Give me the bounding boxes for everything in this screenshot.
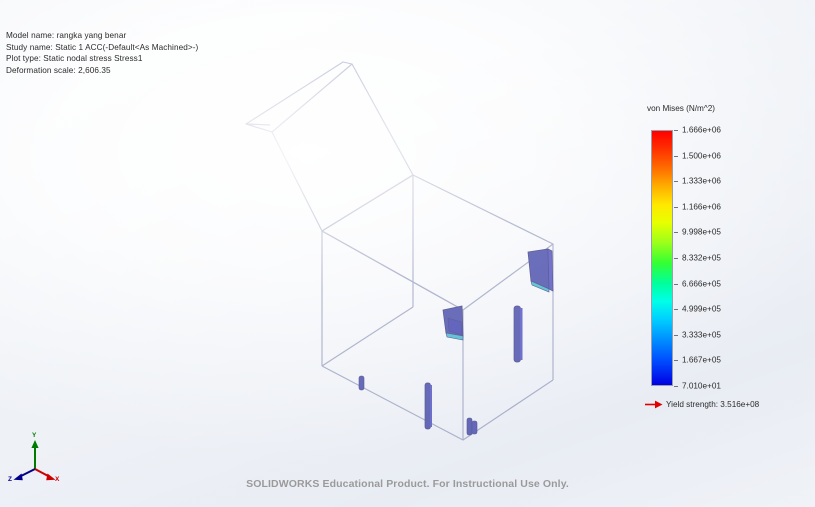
yield-arrow-icon (645, 400, 663, 409)
legend-tick-mark (674, 156, 678, 157)
educational-watermark: SOLIDWORKS Educational Product. For Inst… (0, 478, 815, 490)
legend-tick-mark (674, 232, 678, 233)
stress-element-stub-bottom (467, 418, 477, 435)
stress-element-bar-right (514, 306, 523, 362)
legend-tick-label: 9.998e+05 (682, 228, 721, 237)
legend-tick-label: 1.500e+06 (682, 151, 721, 160)
legend-colorbar[interactable] (651, 130, 673, 386)
stress-element-stub-left (359, 376, 364, 390)
stress-element-bar-lower-mid (425, 383, 432, 429)
yield-strength-annotation: Yield strength: 3.516e+08 (645, 400, 759, 409)
legend-tick-mark (674, 335, 678, 336)
info-plot-type: Plot type: Static nodal stress Stress1 (6, 53, 198, 65)
legend-tick-label: 3.333e+05 (682, 330, 721, 339)
legend-title: von Mises (N/m^2) (647, 104, 715, 113)
legend-tick-mark (674, 309, 678, 310)
legend-tick-label: 4.999e+05 (682, 305, 721, 314)
info-model-name: Model name: rangka yang benar (6, 30, 198, 42)
legend-tick-label: 6.666e+05 (682, 279, 721, 288)
legend-colorbar-wrap[interactable] (651, 130, 673, 386)
legend-tick-mark (674, 360, 678, 361)
info-deformation-scale: Deformation scale: 2,606.35 (6, 65, 198, 77)
legend-tick-label: 1.333e+06 (682, 177, 721, 186)
plot-info-block: Model name: rangka yang benar Study name… (6, 30, 198, 76)
yield-strength-label: Yield strength: 3.516e+08 (666, 400, 759, 409)
wireframe-top-panel (246, 62, 413, 231)
legend-tick-label: 1.666e+06 (682, 126, 721, 135)
legend-tick-mark (674, 181, 678, 182)
legend-tick-label: 7.010e+01 (682, 382, 721, 391)
solidworks-simulation-viewport: Model name: rangka yang benar Study name… (0, 0, 815, 507)
legend-tick-label: 8.332e+05 (682, 254, 721, 263)
legend-tick-mark (674, 386, 678, 387)
legend-tick-mark (674, 130, 678, 131)
stress-element-gusset-right (528, 249, 553, 292)
legend-tick-mark (674, 284, 678, 285)
info-study-name: Study name: Static 1 ACC(-Default<As Mac… (6, 42, 198, 54)
legend-tick-mark (674, 258, 678, 259)
stress-element-gusset-center (443, 306, 463, 340)
legend-tick-label: 1.667e+05 (682, 356, 721, 365)
legend-tick-mark (674, 207, 678, 208)
stress-legend[interactable]: von Mises (N/m^2) 1.666e+061.500e+061.33… (641, 104, 791, 424)
legend-tick-label: 1.166e+06 (682, 202, 721, 211)
triad-label-y: Y (32, 432, 36, 439)
